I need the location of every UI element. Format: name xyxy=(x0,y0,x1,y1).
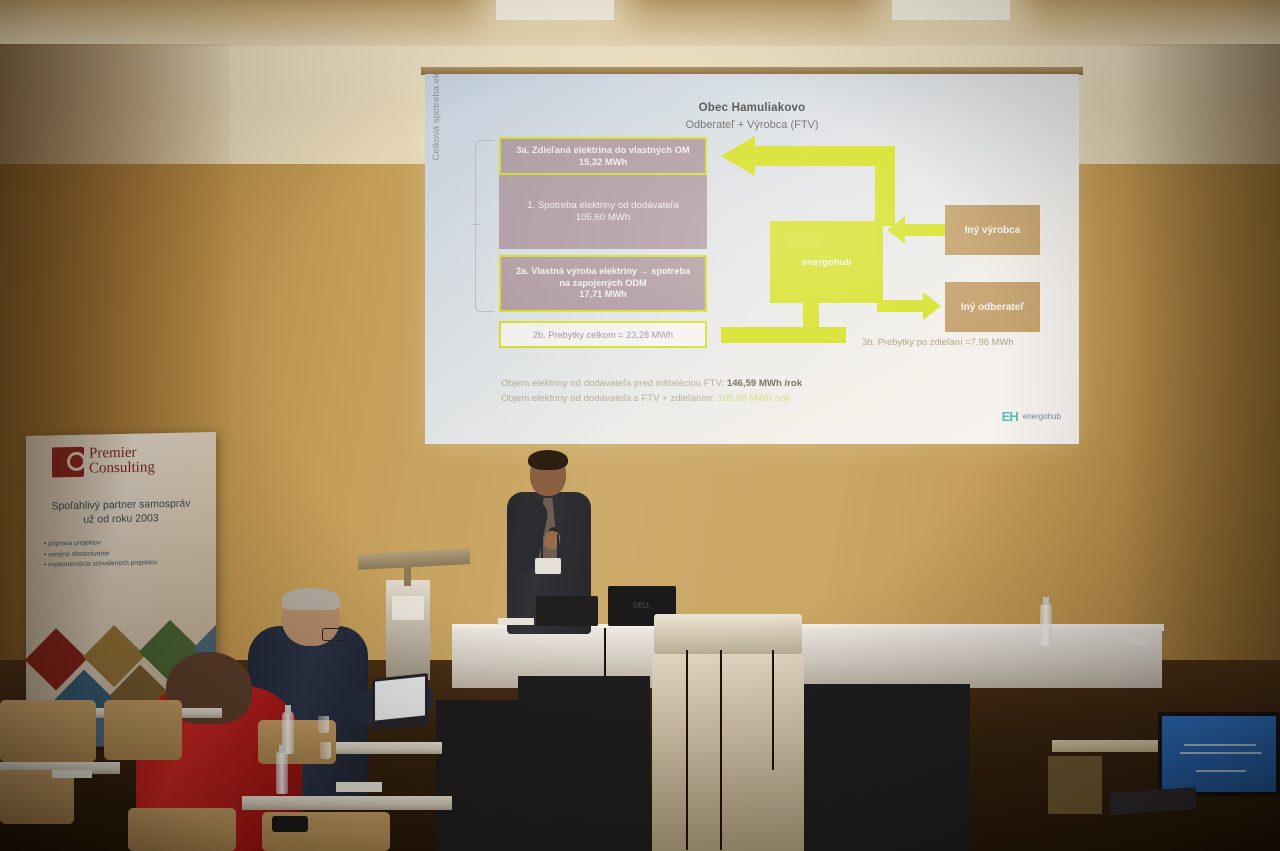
paper-sheet xyxy=(336,782,382,792)
side-desk xyxy=(1052,740,1172,752)
footnote-2-value: 105,60 MWh /rok xyxy=(718,393,791,404)
box-3a-line1: 3a. Zdieľaná elektrina do vlastných OM xyxy=(504,144,702,156)
slide-vertical-axis-label: Celková spotreba elektriny xyxy=(431,74,442,174)
box-2a-line3: 17,71 MWh xyxy=(505,289,701,301)
slide-note-3b: 3b. Prebytky po zdieľaní =7,96 MWh xyxy=(862,336,1014,347)
box-1-line2: 105,60 MWh xyxy=(505,212,701,224)
drinking-glass xyxy=(320,742,331,759)
slide-box-1: 1. Spotreba elektriny od dodávateľa 105,… xyxy=(499,175,707,249)
arrow-hub-to-consumer-head xyxy=(923,292,941,320)
arrow-shared-electricity-bar xyxy=(755,146,895,166)
water-bottle xyxy=(1040,604,1052,646)
slide-other-producer-box: Iný výrobca xyxy=(945,205,1040,255)
footnote-1-value: 146,59 MWh /rok xyxy=(727,378,802,389)
arrow-hub-to-consumer-bar xyxy=(877,300,925,312)
wall-shadow-right xyxy=(1120,44,1280,704)
box-2b-label: 2b. Prebytky celkom = 23,28 MWh xyxy=(533,330,673,340)
audience-desk xyxy=(242,796,452,810)
slide-footnote-1: Objem elektriny od dodávateľa pred inšta… xyxy=(501,377,802,392)
drinking-glass xyxy=(318,716,329,733)
paper-on-table xyxy=(1124,636,1148,645)
audience-man-hair xyxy=(282,588,340,610)
footnote-1-prefix: Objem elektriny od dodávateľa pred inšta… xyxy=(501,378,727,389)
arrow-producer-to-hub-head xyxy=(887,216,905,244)
slide-other-consumer-box: Iný odberateľ xyxy=(945,282,1040,332)
paper-sheet xyxy=(52,770,92,778)
presentation-slide: Obec Hamuliakovo Odberateľ + Výrobca (FT… xyxy=(425,74,1079,444)
laptop-on-head-table xyxy=(536,596,598,626)
smartphone xyxy=(272,816,308,832)
box-1-line1: 1. Spotreba elektriny od dodávateľa xyxy=(505,200,701,212)
energohub-logo-text: energohub xyxy=(1023,412,1061,421)
side-laptop-screen xyxy=(1162,716,1276,792)
projector xyxy=(654,614,802,654)
slide-footnote-2: Objem elektriny od dodávateľa s FTV + zd… xyxy=(501,392,802,407)
slide-box-3a: 3a. Zdieľaná elektrina do vlastných OM 1… xyxy=(499,137,707,175)
box-2a-line1: 2a. Vlastná výroba elektriny → spotreba xyxy=(505,266,701,278)
audience-laptop xyxy=(372,673,428,731)
premier-consulting-name: Premier Consulting xyxy=(89,445,155,477)
audience-chair xyxy=(104,700,182,760)
other-consumer-label: Iný odberateľ xyxy=(961,302,1024,313)
audience-chair xyxy=(0,700,96,762)
bracket-shape xyxy=(475,140,494,312)
footnote-2-prefix: Objem elektriny od dodávateľa s FTV + zd… xyxy=(501,393,718,404)
eyeglasses xyxy=(322,628,346,641)
presenter-hair xyxy=(528,450,568,470)
energohub-logo-mark: EH xyxy=(1002,409,1018,424)
audience-chair xyxy=(128,808,236,851)
arrow-shared-electricity-riser xyxy=(875,146,895,226)
projection-screen: Obec Hamuliakovo Odberateľ + Výrobca (FT… xyxy=(425,74,1079,444)
brand-line-2: Consulting xyxy=(89,461,155,478)
chair-back xyxy=(436,700,522,851)
slide-footnotes: Objem elektriny od dodávateľa pred inšta… xyxy=(501,377,802,407)
dell-logo: DELL xyxy=(633,603,651,610)
ceiling-light xyxy=(892,0,1010,20)
lectern-stem xyxy=(404,566,411,586)
ceiling-light xyxy=(496,0,614,20)
head-table-right xyxy=(900,628,1162,688)
side-desk-leg xyxy=(1048,756,1102,814)
projector-stand xyxy=(652,652,804,851)
projector-cable xyxy=(772,650,774,770)
water-bottle xyxy=(276,752,288,794)
lectern-plate xyxy=(392,596,424,620)
arrow-surplus-bar xyxy=(721,327,846,343)
slide-box-2b: 2b. Prebytky celkom = 23,28 MWh xyxy=(499,321,707,348)
energohub-label: energohub xyxy=(802,257,852,268)
side-laptop xyxy=(1158,712,1280,796)
pc-monogram-icon xyxy=(52,447,84,478)
box-2a-line2: na zapojených ODM xyxy=(505,278,701,290)
arrow-shared-electricity-head xyxy=(721,136,755,176)
banner-tagline: Spoľahlivý partner samospráv už od roku … xyxy=(26,496,216,528)
banner-bullet-list: príprava projektov verejné obstarávanie … xyxy=(44,537,157,571)
box-3a-line2: 15,32 MWh xyxy=(504,156,702,168)
other-producer-label: Iný výrobca xyxy=(965,225,1021,236)
slide-box-2a: 2a. Vlastná výroba elektriny → spotreba … xyxy=(499,255,707,312)
paper-on-table xyxy=(498,618,534,625)
laptop-screen xyxy=(375,676,425,720)
slide-energohub-block: energohub xyxy=(770,221,883,303)
room-ceiling xyxy=(0,0,1280,46)
lanyard xyxy=(541,534,559,560)
conference-room-photo: Obec Hamuliakovo Odberateľ + Výrobca (FT… xyxy=(0,0,1280,851)
projector-cable xyxy=(686,650,688,850)
projector-cable xyxy=(720,650,722,850)
chair-back xyxy=(804,684,970,851)
slide-subtitle: Odberateľ + Výrobca (FTV) xyxy=(425,119,1079,131)
banner-bullet: implementácia schválených projektov xyxy=(44,558,157,571)
arrow-producer-to-hub-bar xyxy=(903,224,949,236)
energohub-logo: EH energohub xyxy=(1002,409,1061,424)
bracket-tick xyxy=(471,224,480,225)
name-badge xyxy=(535,558,561,574)
slide-title: Obec Hamuliakovo xyxy=(425,102,1079,114)
chair-back xyxy=(518,676,650,851)
premier-consulting-logo: Premier Consulting xyxy=(52,445,155,478)
audience-chair xyxy=(0,770,74,824)
lectern xyxy=(386,580,430,680)
